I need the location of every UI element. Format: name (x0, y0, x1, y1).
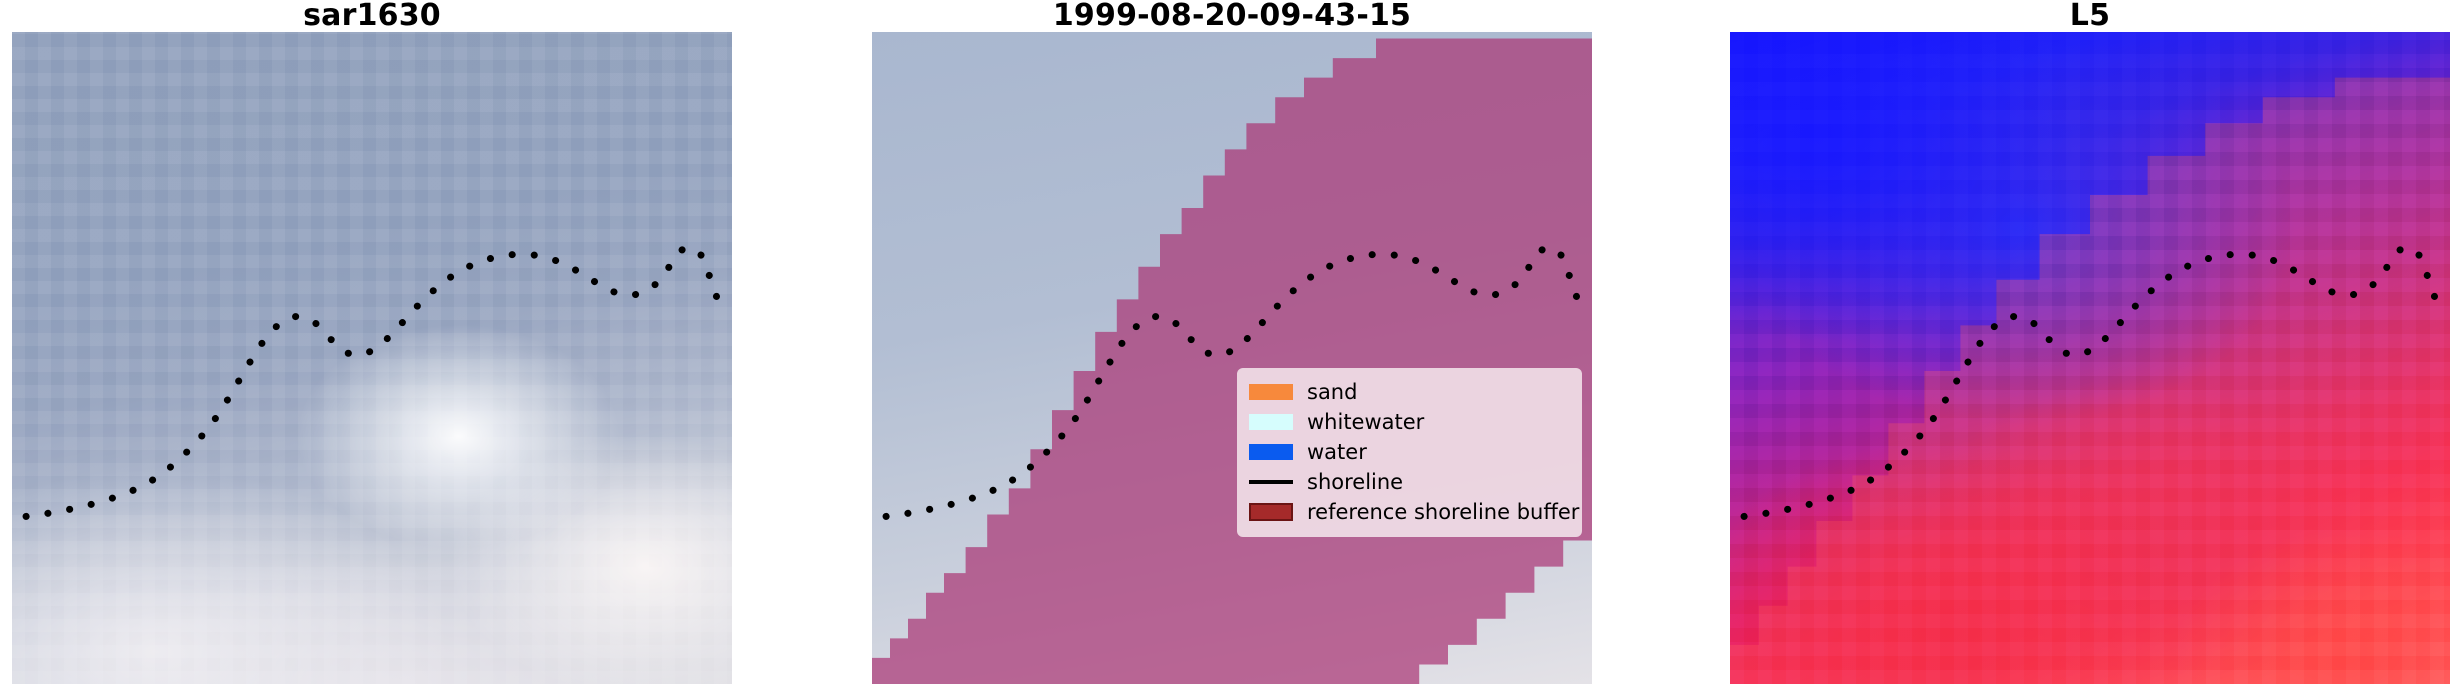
sar-speckle-texture (12, 32, 732, 684)
legend-swatch-sand (1249, 384, 1293, 400)
legend-item-reference-shoreline-buffer: reference shoreline buffer (1249, 497, 1570, 527)
reference-shoreline-buffer-region (872, 32, 1592, 684)
rgb-image (1730, 32, 2450, 684)
sar-image (12, 32, 732, 684)
panel-sar (12, 32, 732, 684)
legend-label-water: water (1307, 440, 1367, 464)
legend-label-whitewater: whitewater (1307, 410, 1424, 434)
panel-classification (872, 32, 1592, 684)
classification-base-image (872, 32, 1592, 684)
legend-item-water: water (1249, 437, 1570, 467)
panel-title-classification: 1999-08-20-09-43-15 (872, 0, 1592, 32)
legend-label-reference-shoreline-buffer: reference shoreline buffer (1307, 500, 1579, 524)
figure-canvas: sar1630 1999-08-20-09-43-15 L5 (0, 0, 2460, 684)
panel-rgb (1730, 32, 2450, 684)
panel-title-rgb: L5 (1730, 0, 2450, 32)
legend-label-sand: sand (1307, 380, 1357, 404)
legend-item-whitewater: whitewater (1249, 407, 1570, 437)
legend: sand whitewater water shoreline referenc… (1237, 368, 1582, 537)
legend-item-shoreline: shoreline (1249, 467, 1570, 497)
legend-label-shoreline: shoreline (1307, 470, 1403, 494)
legend-swatch-water (1249, 444, 1293, 460)
legend-swatch-shoreline (1249, 480, 1293, 484)
panel-title-sar: sar1630 (12, 0, 732, 32)
rgb-pixel-texture (1730, 32, 2450, 684)
legend-swatch-reference-shoreline-buffer (1249, 503, 1293, 521)
legend-item-sand: sand (1249, 377, 1570, 407)
legend-swatch-whitewater (1249, 414, 1293, 430)
